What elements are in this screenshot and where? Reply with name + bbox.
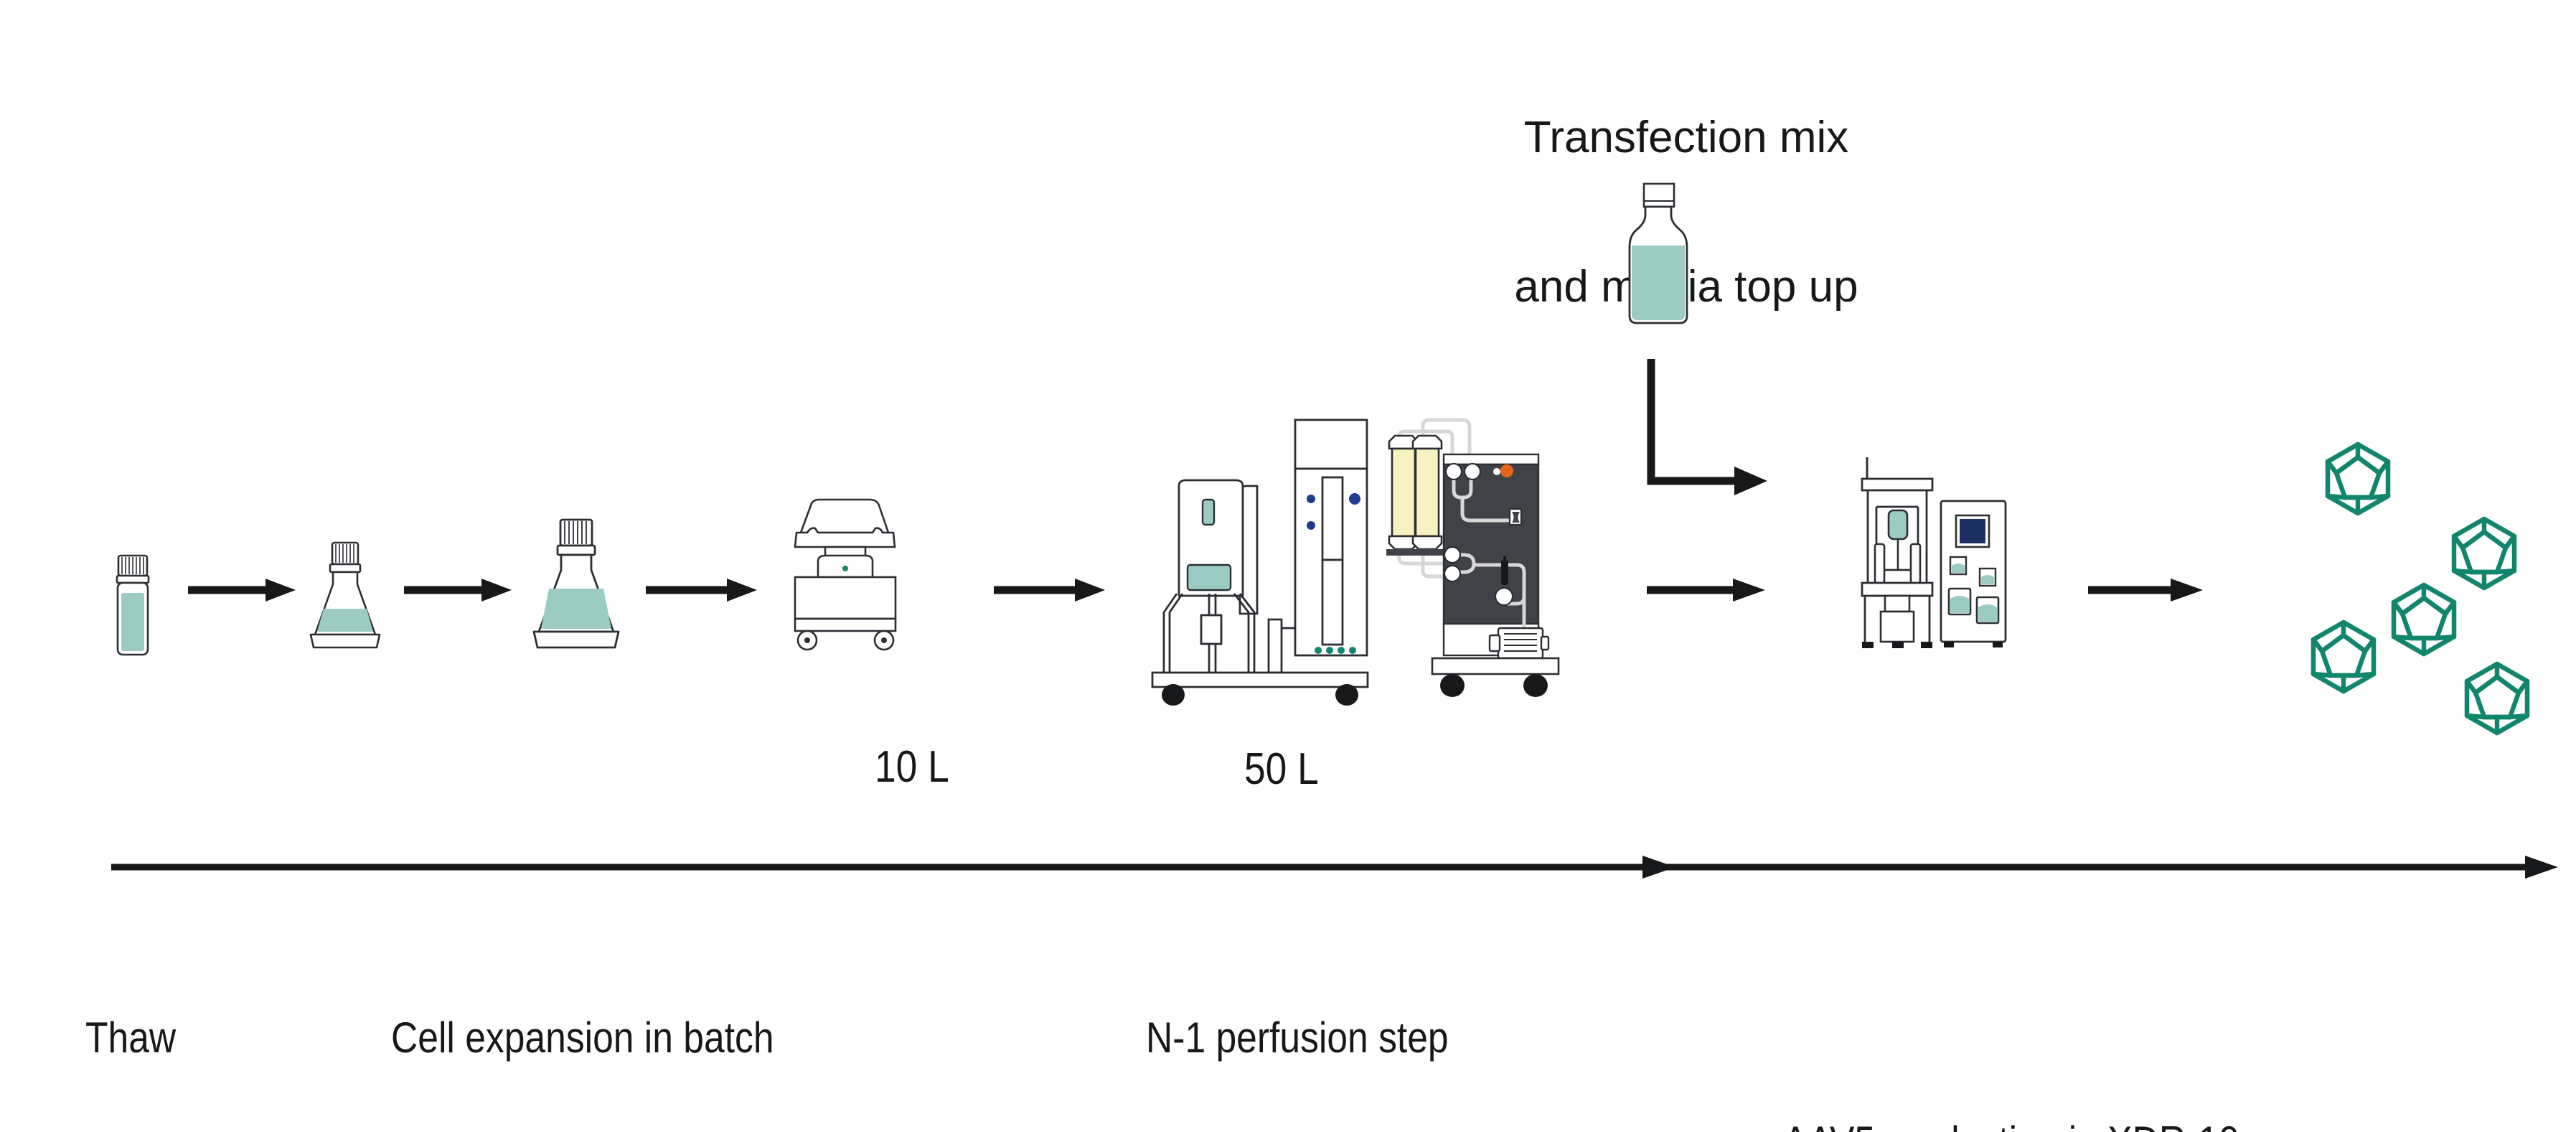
perfusion-volume-label: 50 L	[1195, 695, 1331, 844]
flow-arrow-thaw-to-flask	[188, 574, 296, 606]
process-flow-diagram: Transfection mix and media top up	[0, 0, 2576, 1132]
flow-arrow-flask-to-rocker	[646, 574, 757, 606]
shake-flask-large-icon	[527, 515, 624, 663]
stage-label-perfusion-text: N-1 perfusion step	[1146, 1014, 1449, 1062]
stage-label-expansion-text: Cell expansion in batch	[391, 1014, 774, 1062]
rocker-volume-text: 10 L	[875, 742, 949, 792]
perfusion-skid-icon	[1383, 413, 1613, 707]
transfection-annotation-line1: Transfection mix	[1435, 113, 1937, 162]
flow-arrow-flask-to-flask	[404, 574, 512, 606]
flow-arrow-media-feed-elbow	[1647, 359, 1776, 517]
timeline-arrow-production	[1665, 851, 2558, 884]
stage-label-production-line1: AAV5 production in XDR-10 as	[1711, 1069, 2371, 1132]
shake-flask-small-icon	[305, 538, 384, 660]
flow-arrow-xdr-to-capsids	[2088, 574, 2203, 606]
rocker-bioreactor-icon	[775, 495, 911, 660]
flow-arrow-perfusion-to-xdr	[1647, 574, 1765, 606]
rocker-volume-label: 10 L	[825, 693, 962, 842]
stage-label-perfusion: N-1 perfusion step	[1098, 965, 1498, 1110]
perfusion-volume-text: 50 L	[1244, 744, 1319, 794]
stage-label-thaw-text: Thaw	[85, 1014, 176, 1062]
stage-label-expansion: Cell expansion in batch	[343, 965, 836, 1110]
flow-arrow-rocker-to-perfusion	[994, 574, 1105, 606]
timeline-arrow-seed-train	[111, 851, 1675, 884]
media-bottle-icon	[1618, 181, 1697, 332]
perfusion-bioreactor-icon	[1148, 406, 1385, 707]
cryovial-icon	[108, 553, 158, 660]
xdr-bioreactor-icon	[1833, 446, 2013, 683]
stage-label-thaw: Thaw	[37, 965, 190, 1110]
aav-capsid-icon	[2282, 441, 2562, 743]
stage-label-production: AAV5 production in XDR-10 as a model for…	[1711, 973, 2371, 1132]
